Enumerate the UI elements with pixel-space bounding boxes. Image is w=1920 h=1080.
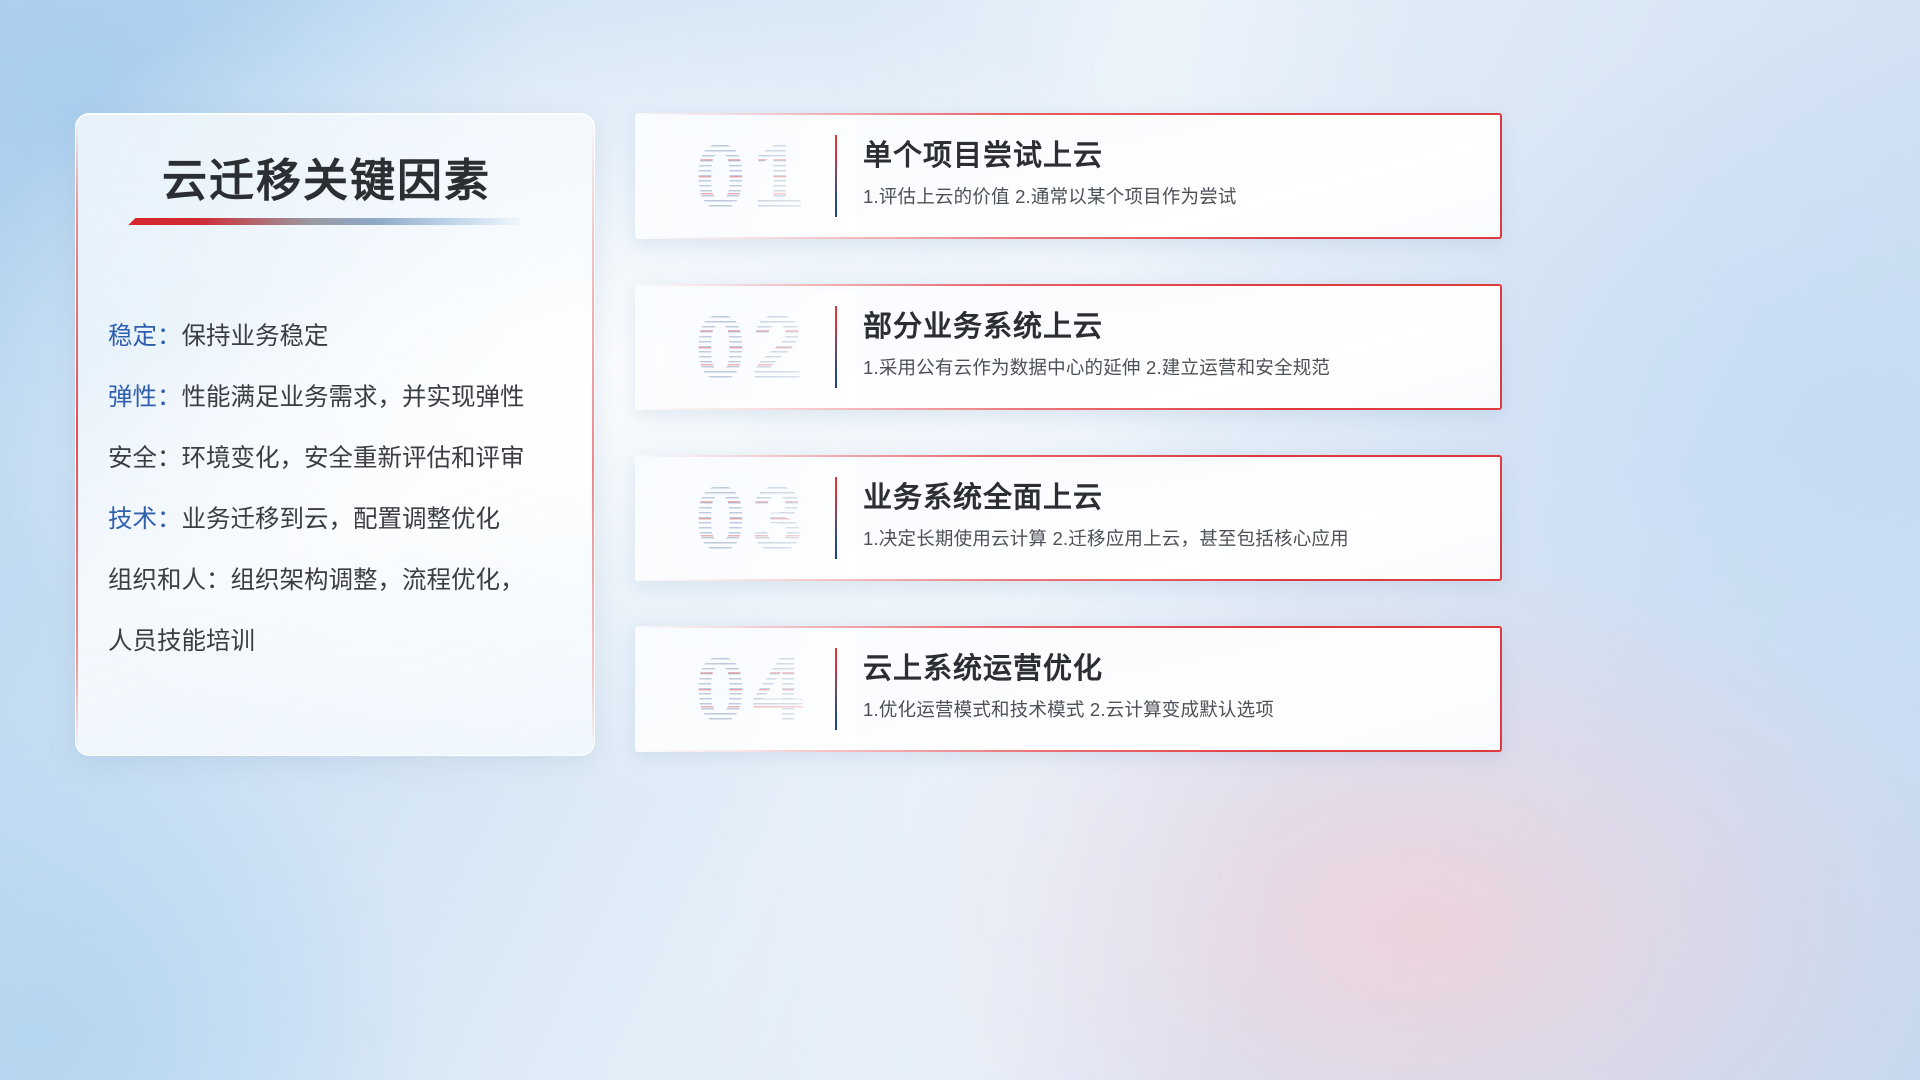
card-title: 部分业务系统上云 xyxy=(863,303,1484,345)
key-factor-text: 性能满足业务需求，并实现弹性 xyxy=(182,378,525,413)
title-underline-gradient xyxy=(126,218,521,225)
key-factor-label: 弹性： xyxy=(108,378,182,413)
card-divider-line xyxy=(835,648,837,730)
slide-stage: 云迁移关键因素 稳定：保持业务稳定弹性：性能满足业务需求，并实现弹性安全：环境变… xyxy=(0,0,1920,1080)
card-divider-line xyxy=(835,477,837,559)
key-factor-row: 组织和人：组织架构调整，流程优化， xyxy=(108,548,574,609)
key-factor-row: 安全：环境变化，安全重新评估和评审 xyxy=(108,426,574,487)
key-factor-label: 安全： xyxy=(108,439,182,474)
card-divider-line xyxy=(835,135,837,217)
key-factor-row: 弹性：性能满足业务需求，并实现弹性 xyxy=(108,365,574,426)
card-body: 业务系统全面上云1.决定长期使用云计算 2.迁移应用上云，甚至包括核心应用 xyxy=(863,474,1484,551)
card-divider-line xyxy=(835,306,837,388)
card-description: 1.优化运营模式和技术模式 2.云计算变成默认选项 xyxy=(863,696,1484,722)
card-step-number: 02 xyxy=(657,296,847,400)
key-factor-text: 组织架构调整，流程优化， xyxy=(231,561,525,596)
card-step-number: 01 xyxy=(657,125,847,229)
card-right-edge xyxy=(1500,626,1502,752)
stage-cards-list: 0101单个项目尝试上云1.评估上云的价值 2.通常以某个项目作为尝试0202部… xyxy=(635,113,1502,797)
card-body: 部分业务系统上云1.采用公有云作为数据中心的延伸 2.建立运营和安全规范 xyxy=(863,303,1484,380)
stage-card[interactable]: 0404云上系统运营优化1.优化运营模式和技术模式 2.云计算变成默认选项 xyxy=(635,626,1502,752)
stage-card[interactable]: 0101单个项目尝试上云1.评估上云的价值 2.通常以某个项目作为尝试 xyxy=(635,113,1502,239)
stage-card[interactable]: 0303业务系统全面上云1.决定长期使用云计算 2.迁移应用上云，甚至包括核心应… xyxy=(635,455,1502,581)
card-right-edge xyxy=(1500,284,1502,410)
key-factor-row: 人员技能培训 xyxy=(108,609,574,670)
key-factor-text: 业务迁移到云，配置调整优化 xyxy=(182,500,501,535)
stage-card[interactable]: 0202部分业务系统上云1.采用公有云作为数据中心的延伸 2.建立运营和安全规范 xyxy=(635,284,1502,410)
card-right-edge xyxy=(1500,455,1502,581)
key-factors-panel: 云迁移关键因素 稳定：保持业务稳定弹性：性能满足业务需求，并实现弹性安全：环境变… xyxy=(75,113,595,756)
card-description: 1.决定长期使用云计算 2.迁移应用上云，甚至包括核心应用 xyxy=(863,525,1484,551)
card-description: 1.采用公有云作为数据中心的延伸 2.建立运营和安全规范 xyxy=(863,354,1484,380)
key-factor-text: 保持业务稳定 xyxy=(182,317,329,352)
key-factor-text: 环境变化，安全重新评估和评审 xyxy=(182,439,525,474)
key-factors-list: 稳定：保持业务稳定弹性：性能满足业务需求，并实现弹性安全：环境变化，安全重新评估… xyxy=(108,304,574,670)
panel-title: 云迁移关键因素 xyxy=(162,144,491,209)
card-body: 云上系统运营优化1.优化运营模式和技术模式 2.云计算变成默认选项 xyxy=(863,645,1484,722)
card-body: 单个项目尝试上云1.评估上云的价值 2.通常以某个项目作为尝试 xyxy=(863,132,1484,209)
card-title: 云上系统运营优化 xyxy=(863,645,1484,687)
key-factor-text: 人员技能培训 xyxy=(108,622,255,657)
card-step-number: 04 xyxy=(657,638,847,742)
key-factor-row: 技术：业务迁移到云，配置调整优化 xyxy=(108,487,574,548)
key-factor-label: 技术： xyxy=(108,500,182,535)
card-right-edge xyxy=(1500,113,1502,239)
key-factor-label: 稳定： xyxy=(108,317,182,352)
card-description: 1.评估上云的价值 2.通常以某个项目作为尝试 xyxy=(863,183,1484,209)
key-factor-label: 组织和人： xyxy=(108,561,231,596)
key-factor-row: 稳定：保持业务稳定 xyxy=(108,304,574,365)
card-step-number: 03 xyxy=(657,467,847,571)
card-title: 单个项目尝试上云 xyxy=(863,132,1484,174)
card-title: 业务系统全面上云 xyxy=(863,474,1484,516)
